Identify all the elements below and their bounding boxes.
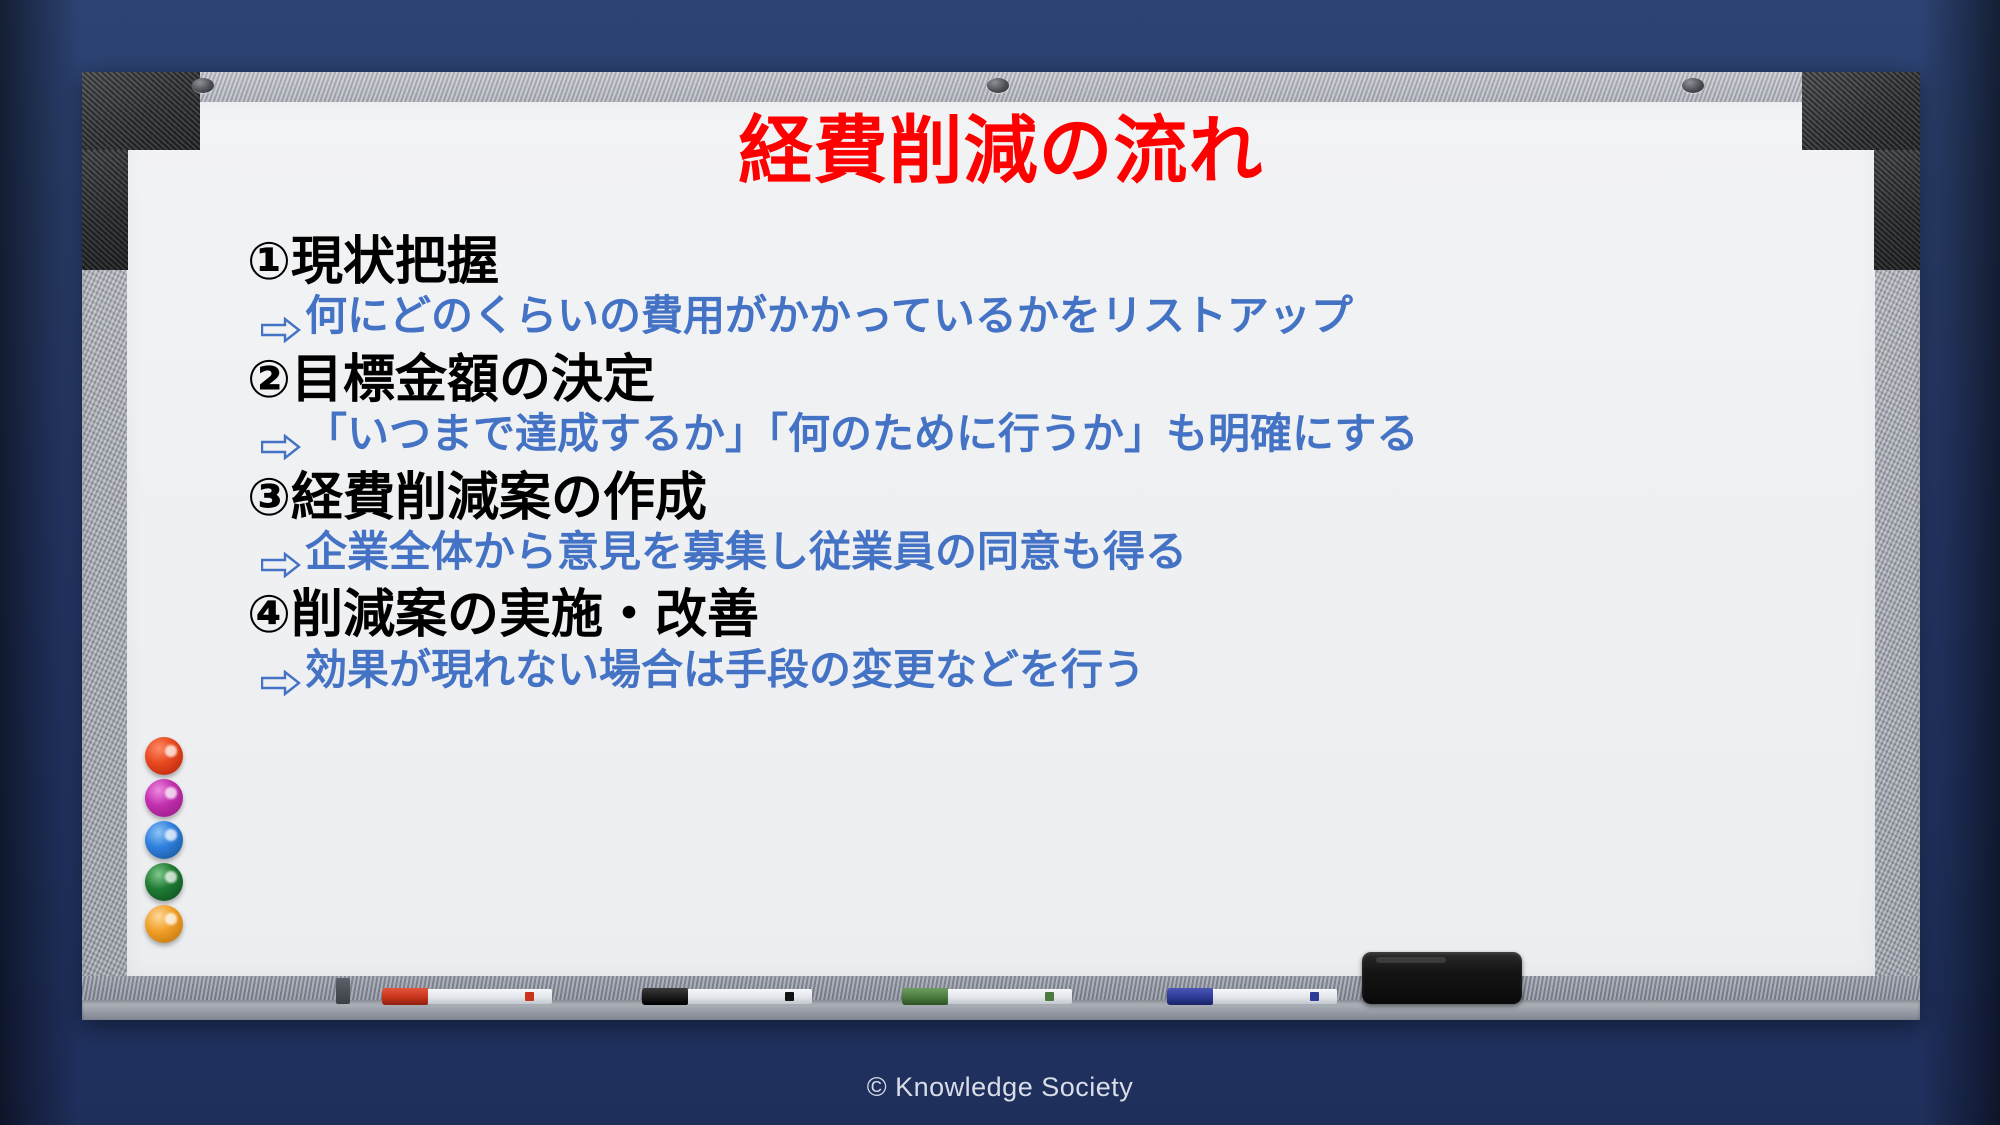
- magnet-blue[interactable]: [145, 821, 183, 859]
- magnet-highlight: [165, 913, 177, 924]
- magnet-highlight: [165, 871, 177, 882]
- right-arrow-outline-icon: [261, 539, 301, 565]
- whiteboard-frame: 経費削減の流れ ①現状把握 何にどのくらいの費用がかかっているかをリストアップ: [82, 72, 1920, 1020]
- right-arrow-outline-icon: [261, 657, 301, 683]
- step-description-text: 効果が現れない場合は手段の変更などを行う: [305, 645, 1145, 695]
- magnet-green[interactable]: [145, 863, 183, 901]
- step-heading: ②目標金額の決定: [247, 350, 1880, 411]
- slide-content: 経費削減の流れ ①現状把握 何にどのくらいの費用がかかっているかをリストアップ: [82, 72, 1920, 1020]
- step-description-text: 企業全体から意見を募集し従業員の同意も得る: [305, 527, 1187, 577]
- step-item-2: ②目標金額の決定 「いつまで達成するか」「何のために行うか」も明確にする: [247, 350, 1880, 460]
- slide-canvas: 経費削減の流れ ①現状把握 何にどのくらいの費用がかかっているかをリストアップ: [0, 0, 2000, 1125]
- magnet-orange[interactable]: [145, 905, 183, 943]
- step-item-4: ④削減案の実施・改善 効果が現れない場合は手段の変更などを行う: [247, 585, 1880, 695]
- step-heading: ①現状把握: [247, 232, 1880, 293]
- step-heading: ④削減案の実施・改善: [247, 585, 1880, 646]
- step-heading: ③経費削減案の作成: [247, 468, 1880, 529]
- step-description: 何にどのくらいの費用がかかっているかをリストアップ: [261, 291, 1880, 341]
- magnet-highlight: [165, 829, 177, 840]
- step-description: 効果が現れない場合は手段の変更などを行う: [261, 645, 1880, 695]
- right-arrow-outline-icon: [261, 304, 301, 330]
- step-description-text: 何にどのくらいの費用がかかっているかをリストアップ: [305, 291, 1353, 341]
- magnet-red[interactable]: [145, 737, 183, 775]
- magnet-magenta[interactable]: [145, 779, 183, 817]
- step-description-text: 「いつまで達成するか」「何のために行うか」も明確にする: [305, 409, 1418, 459]
- step-description: 企業全体から意見を募集し従業員の同意も得る: [261, 527, 1880, 577]
- step-item-1: ①現状把握 何にどのくらいの費用がかかっているかをリストアップ: [247, 232, 1880, 342]
- copyright-footer: © Knowledge Society: [0, 1072, 2000, 1103]
- step-description: 「いつまで達成するか」「何のために行うか」も明確にする: [261, 409, 1880, 459]
- right-arrow-outline-icon: [261, 421, 301, 447]
- page-title: 経費削減の流れ: [82, 114, 1920, 188]
- magnet-highlight: [165, 745, 177, 756]
- step-item-3: ③経費削減案の作成 企業全体から意見を募集し従業員の同意も得る: [247, 468, 1880, 578]
- magnet-highlight: [165, 787, 177, 798]
- step-list: ①現状把握 何にどのくらいの費用がかかっているかをリストアップ ②目標金額の決定: [247, 232, 1880, 703]
